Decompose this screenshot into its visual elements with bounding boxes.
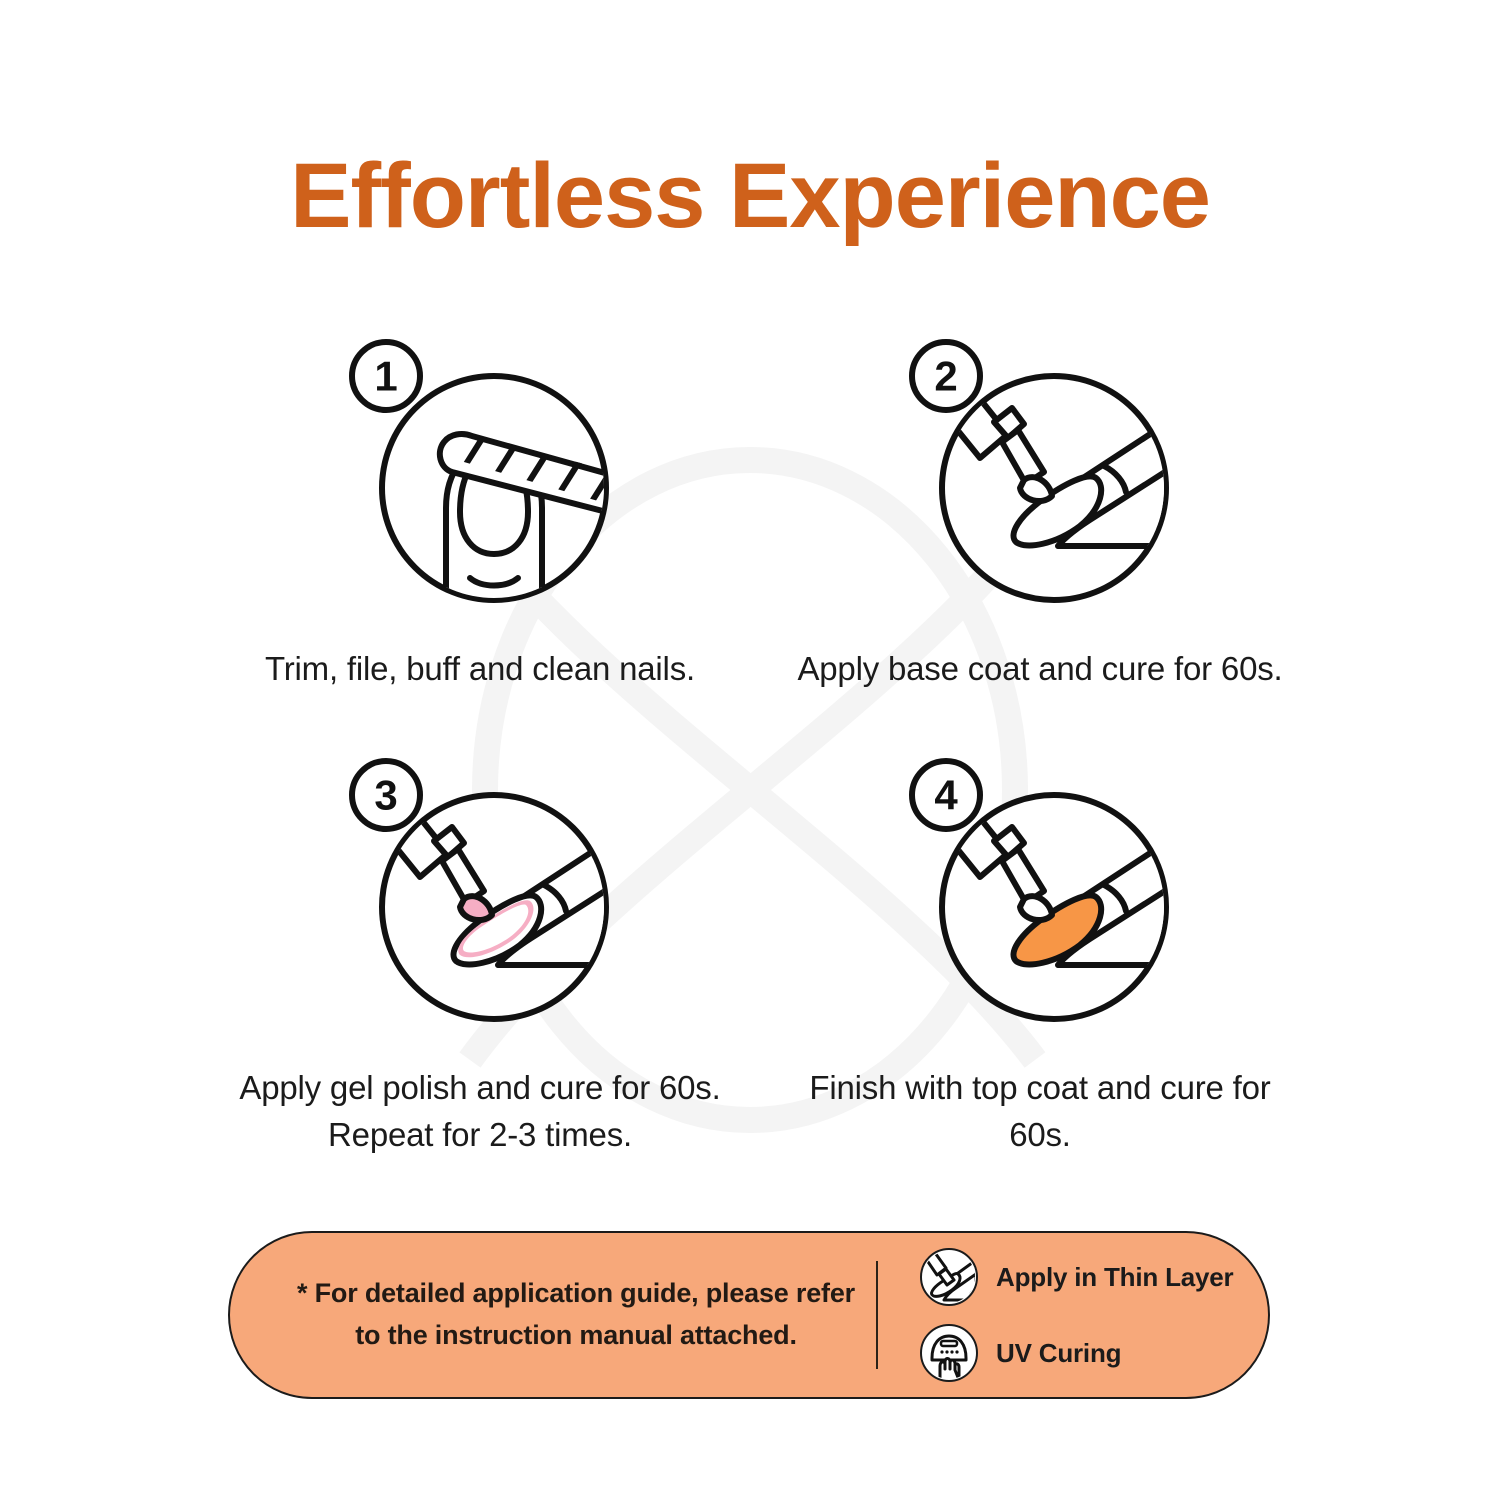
infographic-page: Effortless Experience bbox=[0, 0, 1500, 1500]
badge-uv-curing: UV Curing bbox=[920, 1324, 1268, 1382]
step-item-3: 3 Apply gel polish and cure for 60s. Rep… bbox=[230, 749, 730, 1159]
step-3-caption: Apply gel polish and cure for 60s. Repea… bbox=[230, 1065, 730, 1159]
step-2-illustration: 2 bbox=[890, 330, 1190, 620]
uv-curing-lamp-icon bbox=[920, 1324, 978, 1382]
step-item-2: 2 Apply base coat and cure for 60s. bbox=[790, 330, 1290, 693]
step-2-caption: Apply base coat and cure for 60s. bbox=[790, 646, 1290, 693]
step-4-caption: Finish with top coat and cure for 60s. bbox=[790, 1065, 1290, 1159]
step-1-caption: Trim, file, buff and clean nails. bbox=[230, 646, 730, 693]
footer-banner: * For detailed application guide, please… bbox=[228, 1231, 1270, 1399]
step-item-1: 1 Trim, file, buff and clean nails. bbox=[230, 330, 730, 693]
page-title: Effortless Experience bbox=[0, 148, 1500, 245]
badge-apply-thin-layer: Apply in Thin Layer bbox=[920, 1248, 1268, 1306]
apply-thin-layer-icon bbox=[920, 1248, 978, 1306]
step-number-1: 1 bbox=[374, 353, 397, 400]
step-number-3: 3 bbox=[374, 771, 397, 818]
step-3-illustration: 3 bbox=[330, 749, 630, 1039]
step-item-4: 4 Finish with top coat and cure for 60s. bbox=[790, 749, 1290, 1159]
banner-note: * For detailed application guide, please… bbox=[230, 1273, 870, 1357]
badge-label-apply-thin-layer: Apply in Thin Layer bbox=[996, 1262, 1233, 1293]
step-1-illustration: 1 bbox=[330, 330, 630, 620]
step-number-4: 4 bbox=[934, 771, 958, 818]
step-number-2: 2 bbox=[934, 353, 957, 400]
banner-badges: Apply in Thin Layer bbox=[878, 1248, 1268, 1382]
badge-label-uv-curing: UV Curing bbox=[996, 1338, 1121, 1369]
steps-grid: 1 Trim, file, buff and clean nails. bbox=[230, 330, 1270, 1159]
step-4-illustration: 4 bbox=[890, 749, 1190, 1039]
